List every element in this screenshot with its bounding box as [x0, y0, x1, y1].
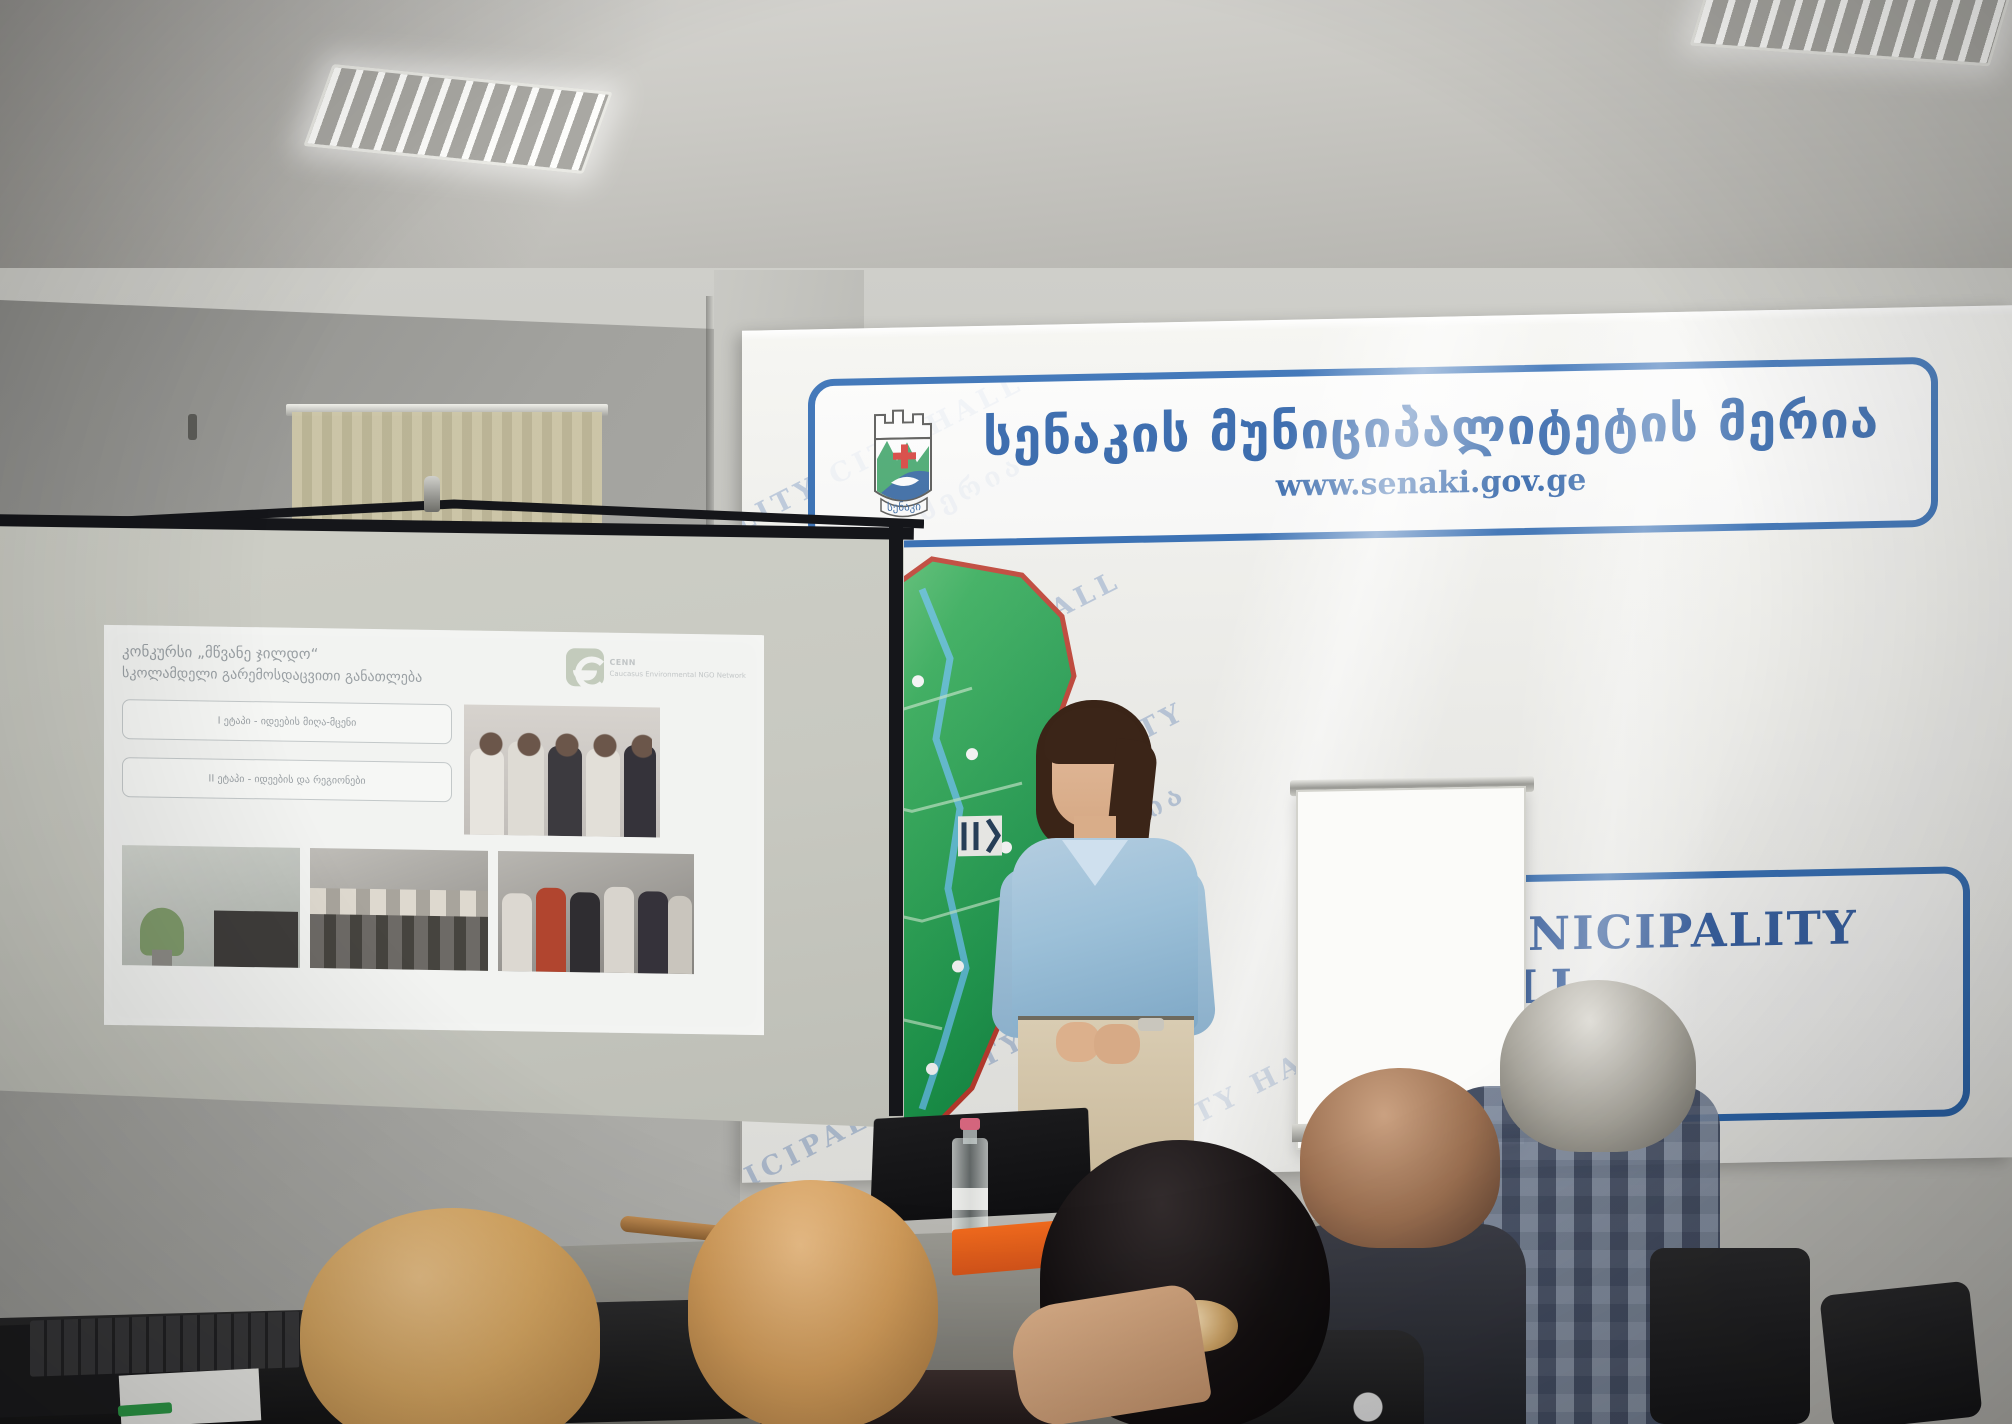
female-presenter — [990, 700, 1220, 1170]
attendee-head-grey-haired — [1500, 980, 1696, 1152]
bottle-cap — [960, 1118, 980, 1130]
slide-stage-box-2: II ეტაპი - იდეების და რეგიონები — [122, 757, 452, 802]
attendee-head-balding — [1300, 1068, 1500, 1248]
cenn-logo-icon — [566, 648, 604, 687]
screen-mount-knob — [424, 476, 440, 512]
cenn-logo: CENN Caucasus Environmental NGO Network — [566, 648, 747, 689]
desktop-keyboard[interactable] — [30, 1311, 300, 1376]
slide-photo-certificate-group — [498, 851, 694, 974]
projection-screen: კონკურსი „მწვანე ჯილდო“ სკოლამდელი გარემ… — [0, 498, 924, 1138]
cenn-logo-text: CENN Caucasus Environmental NGO Network — [610, 657, 747, 682]
screen-surface: კონკურსი „მწვანე ჯილდო“ სკოლამდელი გარემ… — [0, 520, 904, 1128]
slide-photo-office-plant — [122, 845, 300, 968]
banner-url: www.senaki.gov.ge — [983, 457, 1879, 510]
slide-photo-conference-audience — [310, 848, 488, 971]
slide-title: კონკურსი „მწვანე ჯილდო“ სკოლამდელი გარემ… — [122, 641, 422, 688]
chair-back-right[interactable] — [1819, 1281, 1982, 1424]
banner-headline: სენაკის მუნიციპალიტეტის მერია — [983, 394, 1879, 466]
slide-header: კონკურსი „მწვანე ჯილდო“ სკოლამდელი გარემ… — [122, 641, 746, 693]
banner-headline-plaque: სენაკი სენაკის მუნიციპალიტეტის მერია www… — [808, 357, 1938, 550]
slide-stage-box-1: I ეტაპი - იდეების მიღა-მცენი — [122, 699, 452, 744]
bottle-body — [952, 1138, 988, 1236]
attendee-head-curly-blonde — [688, 1180, 938, 1424]
slide-stage-column: I ეტაპი - იდეების მიღა-მცენი II ეტაპი - … — [122, 699, 452, 834]
slide-photo-award-ceremony — [464, 705, 660, 838]
slide-body: I ეტაპი - იდეების მიღა-მცენი II ეტაპი - … — [122, 699, 746, 839]
presentation-room-photo: SENAKI MUNICIPALITY CITY HALL სენაკის მუ… — [0, 0, 2012, 1424]
presentation-slide: კონკურსი „მწვანე ჯილდო“ სკოლამდელი გარემ… — [104, 625, 764, 1035]
slide-photo-grid — [122, 845, 746, 975]
paper-stack[interactable] — [119, 1368, 262, 1424]
water-bottle — [952, 1118, 988, 1236]
presenter-wristwatch — [1138, 1018, 1164, 1031]
blinds-knob[interactable] — [188, 414, 197, 440]
ceiling-light-panel-right — [1690, 0, 2011, 67]
presenter-right-hand — [1094, 1024, 1140, 1064]
cenn-logo-name: CENN — [610, 658, 636, 667]
screen-right-frame — [889, 526, 903, 1116]
slide-title-line2: სკოლამდელი გარემოსდაცვითი განათლება — [122, 663, 422, 688]
bottle-label — [952, 1188, 988, 1210]
chair-back-left[interactable] — [1650, 1248, 1810, 1424]
cenn-logo-subtitle: Caucasus Environmental NGO Network — [610, 669, 747, 682]
